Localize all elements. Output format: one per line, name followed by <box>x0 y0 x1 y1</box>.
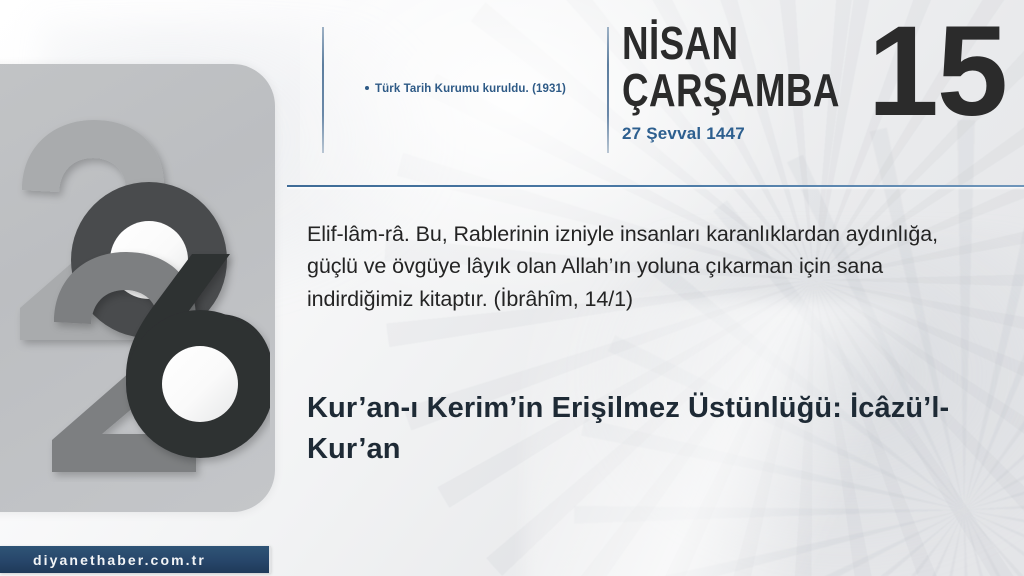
month-name: NİSAN <box>622 22 822 64</box>
year-logo-card <box>0 64 275 512</box>
historical-event-text: Türk Tarih Kurumu kuruldu. (1931) <box>375 83 566 95</box>
year-logo-2026 <box>12 112 270 482</box>
day-number: 15 <box>868 8 1006 136</box>
footer-website-url: diyanethaber.com.tr <box>33 552 206 568</box>
weekday-name: ÇARŞAMBA <box>622 69 822 111</box>
bullet-dot-icon <box>365 86 369 90</box>
header-rule-highlight <box>287 187 1024 190</box>
header-divider-line-left <box>322 27 324 153</box>
historical-event-note: Türk Tarih Kurumu kuruldu. (1931) <box>365 82 595 96</box>
article-headline: Kur’an-ı Kerim’in Erişilmez Üstünlüğü: İ… <box>307 388 967 470</box>
date-block: NİSAN ÇARŞAMBA 27 Şevval 1447 <box>622 22 872 144</box>
calendar-page: Türk Tarih Kurumu kuruldu. (1931) NİSAN … <box>0 0 1024 576</box>
header-divider-line-right <box>607 27 609 153</box>
quran-verse-text: Elif-lâm-râ. Bu, Rablerinin izniyle insa… <box>307 218 967 315</box>
hijri-date: 27 Şevval 1447 <box>622 124 872 144</box>
